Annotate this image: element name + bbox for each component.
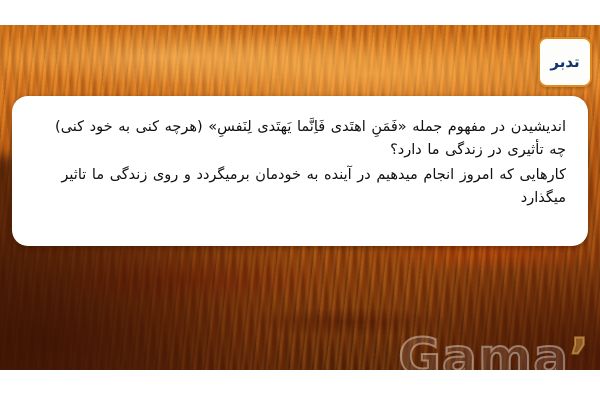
content-card: اندیشیدن در مفهوم جمله «فَمَنِ اهتَدی فَ… xyxy=(12,96,588,246)
tadabbor-badge[interactable]: تدبر xyxy=(538,37,592,87)
answer-text: کارهایی که امروز انجام میدهیم در آینده ب… xyxy=(34,164,566,211)
tadabbor-badge-label: تدبر xyxy=(550,55,579,70)
gama-watermark: Gamaʼ xyxy=(398,332,586,384)
slide-canvas: Gamaʼ تدبر اندیشیدن در مفهوم جمله «فَمَن… xyxy=(0,0,600,400)
watermark-text: Gama xyxy=(398,328,569,388)
top-white-margin xyxy=(0,0,600,25)
question-text: اندیشیدن در مفهوم جمله «فَمَنِ اهتَدی فَ… xyxy=(34,116,566,163)
watermark-accent-tail: ʼ xyxy=(569,332,590,384)
